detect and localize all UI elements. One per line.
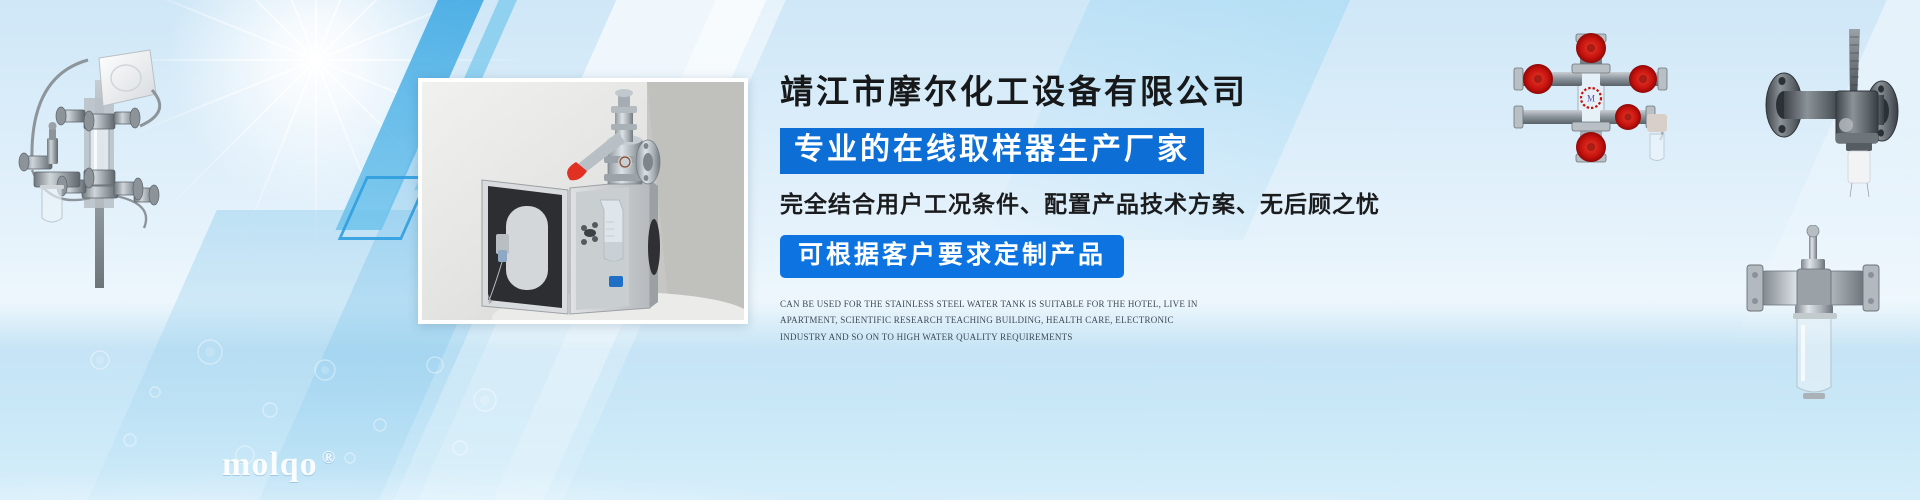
english-description: CAN BE USED FOR THE STAINLESS STEEL WATE… [780,296,1200,346]
watermark-text: molqo [222,446,318,483]
promo-banner: M [0,0,1920,500]
company-name: 靖江市摩尔化工设备有限公司 [780,72,1400,114]
registered-trademark-icon: ® [322,447,336,467]
banner-text-column: 靖江市摩尔化工设备有限公司 专业的在线取样器生产厂家 完全结合用户工况条件、配置… [780,72,1400,346]
top-right-equipment-image: M [1500,30,1700,170]
headline-highlight: 专业的在线取样器生产厂家 [780,128,1204,174]
custom-product-cta[interactable]: 可根据客户要求定制产品 [780,235,1124,278]
sub-headline: 完全结合用户工况条件、配置产品技术方案、无后顾之忧 [780,191,1400,219]
left-equipment-image [4,20,174,290]
top-right-valve-image [1750,25,1910,205]
bottom-right-valve-image [1735,225,1895,415]
svg-text:M: M [1587,94,1595,104]
product-photo [418,78,748,324]
brand-watermark: molqo® [222,446,336,484]
